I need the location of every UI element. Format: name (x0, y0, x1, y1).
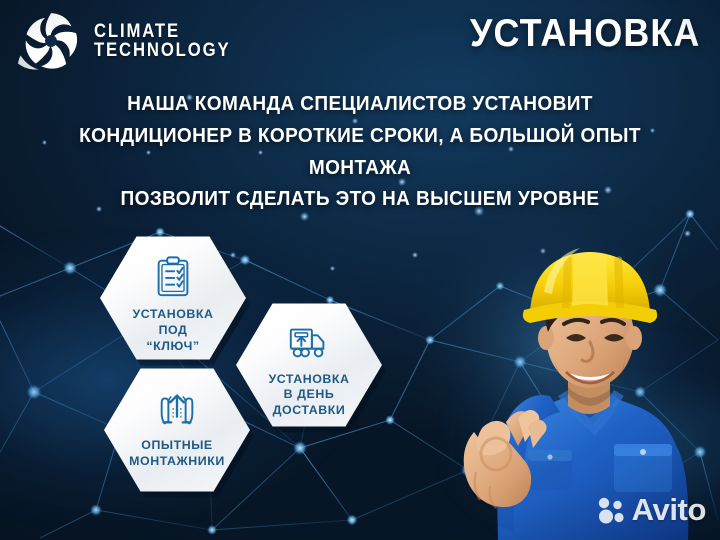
avito-wordmark: Avito (632, 492, 706, 528)
headline-line-1: НАША КОМАНДА СПЕЦИАЛИСТОВ УСТАНОВИТ (25, 88, 695, 120)
brand-logo: CLIMATE TECHNOLOGY (18, 8, 249, 74)
clipboard-checklist-icon (150, 254, 196, 300)
headline-line-2: КОНДИЦИОНЕР В КОРОТКИЕ СРОКИ, А БОЛЬШОЙ … (25, 120, 695, 184)
caring-hands-arrow-icon (154, 385, 200, 431)
page-title: УСТАНОВКА (470, 12, 700, 56)
logo-text-line2: TECHNOLOGY (94, 41, 230, 60)
worker-photo (378, 196, 720, 540)
delivery-truck-icon (286, 319, 332, 365)
fan-swirl-logo-icon (18, 8, 84, 74)
feature-label-line2: В ДЕНЬ (268, 387, 349, 403)
feature-label-line3: ДОСТАВКИ (268, 403, 349, 419)
feature-label: УСТАНОВКА ПОД “КЛЮЧ” (132, 307, 213, 354)
avito-dots-icon (596, 495, 626, 525)
feature-label-line2: МОНТАЖНИКИ (129, 454, 225, 470)
feature-label-line2: ПОД (132, 323, 213, 339)
logo-text-line1: CLIMATE (94, 22, 230, 41)
feature-label-line1: УСТАНОВКА (132, 307, 213, 323)
feature-label-line1: ОПЫТНЫЕ (129, 438, 225, 454)
feature-label-line1: УСТАНОВКА (268, 372, 349, 388)
feature-label: ОПЫТНЫЕ МОНТАЖНИКИ (129, 438, 225, 469)
promo-banner: CLIMATE TECHNOLOGY УСТАНОВКА НАША КОМАНД… (0, 0, 720, 540)
avito-watermark: Avito (596, 492, 706, 528)
feature-label-line3: “КЛЮЧ” (132, 339, 213, 355)
feature-label: УСТАНОВКА В ДЕНЬ ДОСТАВКИ (268, 372, 349, 419)
